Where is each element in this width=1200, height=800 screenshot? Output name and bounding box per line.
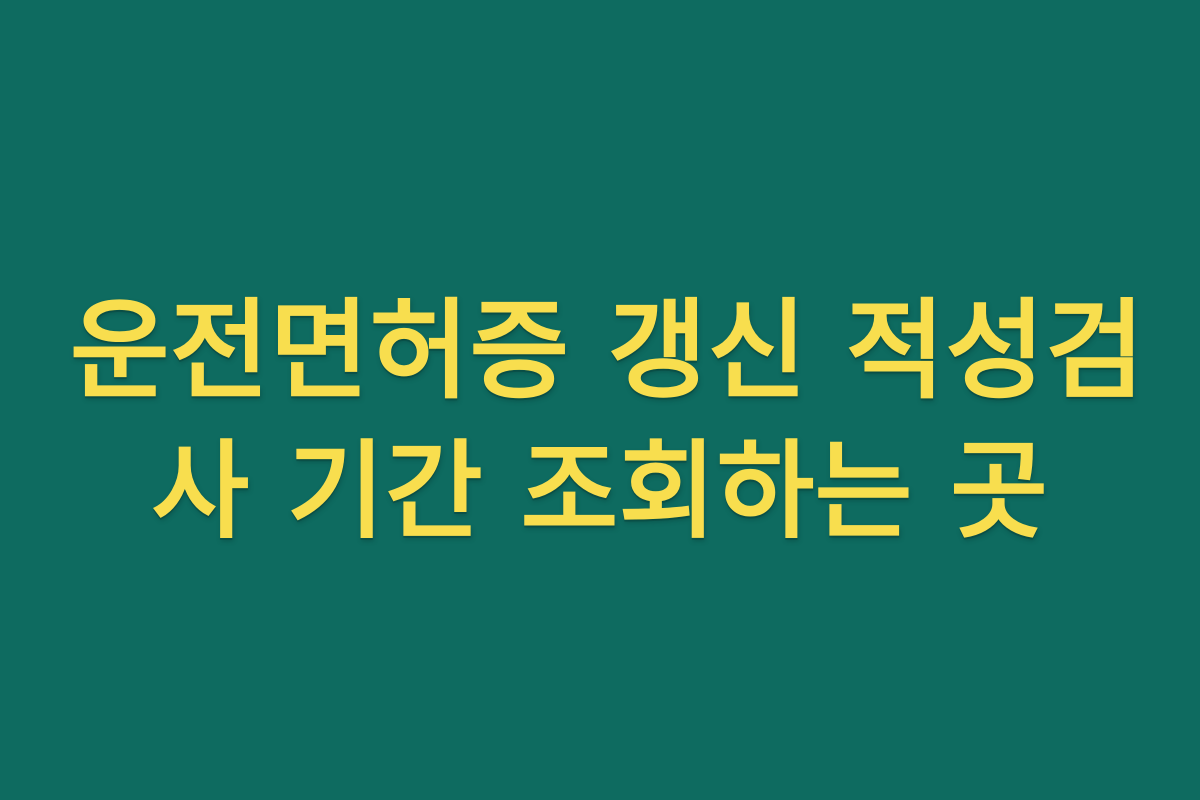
headline-text-block: 운전면허증 갱신 적성검 사 기간 조회하는 곳: [70, 282, 1130, 562]
headline-line-1: 운전면허증 갱신 적성검: [70, 282, 1130, 422]
headline-line-2: 사 기간 조회하는 곳: [70, 422, 1130, 562]
thumbnail-canvas: 운전면허증 갱신 적성검 사 기간 조회하는 곳: [0, 0, 1200, 800]
